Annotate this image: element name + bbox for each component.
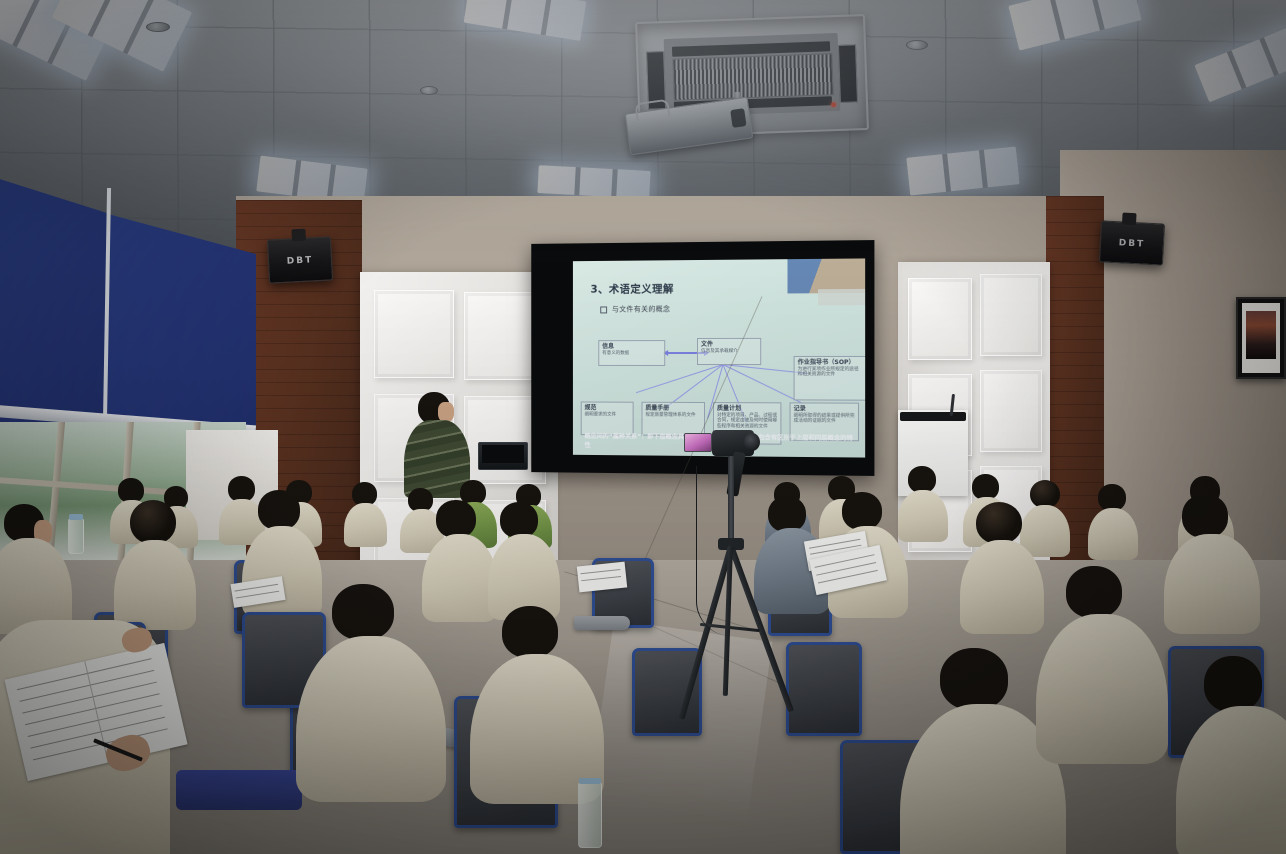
slide-box-document: 文件 信息及其承载媒介 [697,338,761,365]
camera-cable [696,466,731,636]
attendee-head [1204,656,1262,712]
attendee-head [258,490,300,530]
wall-speaker-left: DBT [267,236,333,283]
connector-ray [723,364,803,404]
audience-row-front [0,560,1286,854]
attendee-head [976,502,1022,544]
camcorder-lens [744,433,760,451]
attendee-head [502,606,558,658]
speaker-mount [1122,212,1137,225]
attendee-head [940,648,1008,710]
attendee-head [436,500,476,538]
slide-bullet-text: 与文件有关的概念 [612,305,670,313]
slide-box-detail: 为进行某项作业所规定的途径和相关资源的文件 [795,367,866,380]
speaker-mount [291,229,306,242]
attendee-torso [1176,706,1286,854]
slide-box-heading: 规范 [582,402,633,412]
flipchart-clamp [900,412,966,421]
attendee-head [842,492,882,530]
slide-box-detail: 对特定的项目、产品、过程或合同，规定由谁及何时使用哪些程序和相关资源的文件 [714,413,780,432]
slide-bullet: 与文件有关的概念 [600,304,670,314]
wall-panel [908,278,972,360]
water-bottle[interactable] [578,782,602,848]
attendee-head [908,466,936,493]
slide-box-heading: 质量手册 [642,403,704,413]
camcorder-lcd-screen [684,433,712,452]
attendee-head [1182,494,1228,538]
attendee-head [332,584,394,640]
speaker-brand-label: DBT [1101,237,1163,250]
bullet-square-icon [600,306,607,313]
slide-box-heading: 记录 [791,403,858,413]
bottle-cap [69,514,83,520]
attendee-head [1066,566,1122,618]
conference-room-photo: DBT DBT 3、术语定义理解 与文件有关的概念 信息 [0,0,1286,854]
projection-screen: 3、术语定义理解 与文件有关的概念 信息 有意义的数据 文件 信息及其承载媒介 [573,258,865,457]
slide-box-heading: 作业指导书（SOP） [795,357,866,367]
slide-corner-photo-strip [818,289,865,305]
speaker-brand-label: DBT [269,254,331,267]
slide-box-heading: 文件 [698,339,760,349]
wall-panel [980,370,1042,452]
slide-box-detail: 阐明所取得的结果或提供所完成活动的证据的文件 [791,413,858,426]
slide-corner-photo [787,258,865,293]
wall-panel [374,290,454,378]
attendee-torso [296,636,446,802]
slide-box-detail: 规定质量管理体系的文件 [642,413,704,421]
laptop-screen [482,445,524,463]
slide-box-detail: 信息及其承载媒介 [698,349,760,356]
window-wall-left [0,0,250,520]
framed-picture [1236,297,1286,379]
slide-box-heading: 信息 [599,341,664,351]
slide-title: 3、术语定义理解 [590,281,673,296]
slide-box-heading: 质量计划 [714,403,780,413]
attendee-head [130,500,176,544]
camera-tripod[interactable] [686,430,782,730]
slide-box-sop: 作业指导书（SOP） 为进行某项作业所规定的途径和相关资源的文件 [794,356,866,401]
wall-panel [980,274,1042,356]
bottle-cap [579,778,601,784]
picture-artwork [1246,311,1276,359]
slide-box-detail: 阐明要求的文件 [582,412,633,420]
water-bottle[interactable] [68,518,84,554]
presenter-face [438,402,454,422]
attendee-head [500,502,538,538]
attendee-torso [1036,614,1168,764]
slide-box-info: 信息 有意义的数据 [598,340,665,366]
slide-box-detail: 有意义的数据 [599,351,664,358]
wall-speaker-right: DBT [1099,220,1165,265]
connector-ray [636,364,723,393]
